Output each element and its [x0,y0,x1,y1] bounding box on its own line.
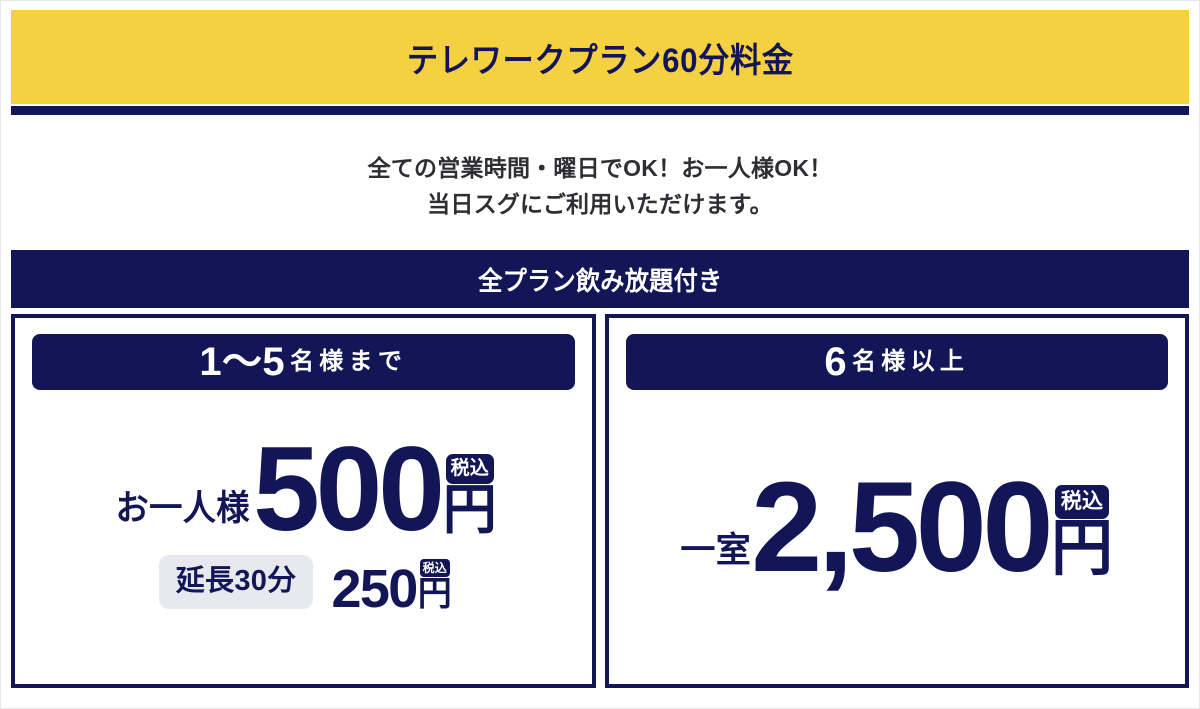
yen-stack-250: 税込 円 [418,559,452,612]
subtitle-line-2: 当日スグにご利用いただけます。 [11,187,1189,223]
all-plans-band: 全プラン飲み放題付き [11,250,1189,308]
price-amount-500: 500 [253,440,441,538]
card-header-6plus: 6 名様以上 [626,334,1169,390]
yen-symbol-2500: 円 [1051,520,1113,579]
price-row-per-person: お一人様 500 税込 円 [32,440,575,538]
pricing-card-1to5: 1〜5 名様まで お一人様 500 税込 円 延長30分 250 税込 円 [11,314,596,688]
card-header-count-1to5: 1〜5 [199,342,285,382]
card-header-suffix-6plus: 名様以上 [847,350,969,374]
title-banner: テレワークプラン60分料金 [11,10,1189,104]
price-prefix-per-room: 一室 [680,533,751,581]
extension-pill-label: 延長30分 [159,555,314,609]
price-row-per-room: 一室 2,500 税込 円 [626,476,1169,581]
yen-stack-2500: 税込 円 [1051,485,1113,581]
yen-symbol-250: 円 [418,578,452,610]
all-plans-band-label: 全プラン飲み放題付き [478,261,722,298]
card-header-suffix-1to5: 名様まで [285,350,407,374]
yen-symbol-500: 円 [443,485,497,536]
extension-row: 延長30分 250 税込 円 [32,555,575,613]
price-prefix-per-person: お一人様 [115,491,249,539]
extension-amount-250: 250 [331,567,416,613]
pricing-card-6plus: 6 名様以上 一室 2,500 税込 円 [605,314,1190,688]
yen-stack-500: 税込 円 [443,454,497,538]
subtitle-line-1: 全ての営業時間・曜日でOK！お一人様OK！ [11,151,1189,187]
page-title: テレワークプラン60分料金 [406,33,793,82]
card-header-1to5: 1〜5 名様まで [32,334,575,390]
pricing-card-row: 1〜5 名様まで お一人様 500 税込 円 延長30分 250 税込 円 [11,314,1189,688]
title-underbar-divider [11,106,1189,115]
subtitle-block: 全ての営業時間・曜日でOK！お一人様OK！ 当日スグにご利用いただけます。 [11,115,1189,250]
card-header-count-6plus: 6 [824,342,847,382]
price-amount-2500: 2,500 [751,476,1049,581]
pricing-poster: テレワークプラン60分料金 全ての営業時間・曜日でOK！お一人様OK！ 当日スグ… [0,0,1200,709]
